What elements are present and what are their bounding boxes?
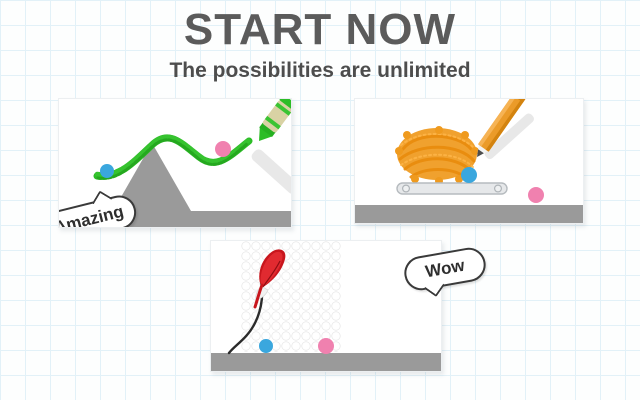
feather-mesh-panel[interactable] (210, 240, 442, 372)
blue-ball (100, 164, 114, 178)
crayon-shadow (250, 147, 291, 195)
pencil-scribble-panel[interactable] (354, 98, 584, 224)
crayon-hill-panel[interactable]: Amazing (58, 98, 292, 228)
pink-ball (215, 141, 231, 157)
pink-ball (318, 338, 334, 354)
green-crayon-icon (252, 99, 291, 146)
red-feather-quill-icon (255, 249, 285, 307)
feather-mesh-scene (211, 241, 441, 371)
blue-ball (461, 167, 477, 183)
pink-ball (528, 187, 544, 203)
page-subtitle: The possibilities are unlimited (0, 60, 640, 81)
ground-strip (211, 353, 441, 371)
pencil-scribble-scene (355, 99, 583, 223)
plank-bolt-right (495, 185, 502, 192)
blue-ball (259, 339, 273, 353)
page-title: START NOW (0, 8, 640, 52)
ground-strip (355, 205, 583, 223)
plank-bolt-left (403, 185, 410, 192)
seesaw-plank-obstacle (397, 183, 507, 194)
promo-stage: START NOW The possibilities are unlimite… (0, 0, 640, 400)
